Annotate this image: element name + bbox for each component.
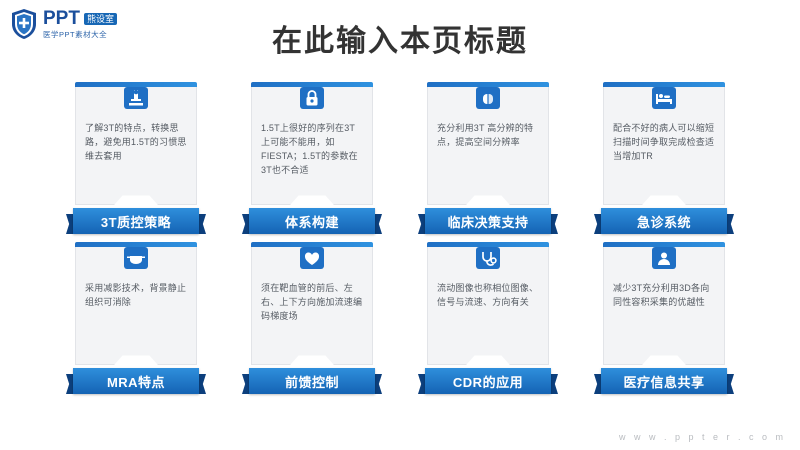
card-label[interactable]: 体系构建 [249,208,375,234]
card-top-bar [427,82,549,87]
card-text: 流动图像也称相位图像、信号与流速、方向有关 [437,281,539,309]
card-row-1: 了解3T的特点，转换思路，避免用1.5T的习惯思维去套用 3T质控策略 [0,82,800,234]
card-body: 须在靶血管的前后、左右、上下方向施加流速编码梯度场 [251,247,373,365]
card-body: 采用减影技术，背景静止组织可消除 [75,247,197,365]
microscope-icon [121,85,151,111]
lock-icon [297,85,327,111]
card-text: 充分利用3T 高分辨的特点，提高空间分辨率 [437,121,539,149]
card-label-wrap: 临床决策支持 [418,208,558,234]
card-7[interactable]: 流动图像也称相位图像、信号与流速、方向有关 CDR的应用 [418,242,558,394]
card-body: 流动图像也称相位图像、信号与流速、方向有关 [427,247,549,365]
card-top-bar [427,242,549,247]
card-grid: 了解3T的特点，转换思路，避免用1.5T的习惯思维去套用 3T质控策略 [0,82,800,402]
footer-watermark: w w w . p p t e r . c o m [619,432,786,442]
card-label-wrap: 体系构建 [242,208,382,234]
mask-icon [121,245,151,271]
card-top-bar [603,82,725,87]
card-label[interactable]: 前馈控制 [249,368,375,394]
card-text: 采用减影技术，背景静止组织可消除 [85,281,187,309]
brain-scan-icon [473,85,503,111]
card-label[interactable]: 医疗信息共享 [601,368,727,394]
card-label-wrap: 医疗信息共享 [594,368,734,394]
card-body: 减少3T充分利用3D各向同性容积采集的优越性 [603,247,725,365]
card-2[interactable]: 1.5T上很好的序列在3T上可能不能用，如FIESTA；1.5T的参数在3T也不… [242,82,382,234]
card-body: 1.5T上很好的序列在3T上可能不能用，如FIESTA；1.5T的参数在3T也不… [251,87,373,205]
card-top-bar [251,242,373,247]
card-label-wrap: MRA特点 [66,368,206,394]
page-title: 在此输入本页标题 [0,16,800,60]
card-body: 了解3T的特点，转换思路，避免用1.5T的习惯思维去套用 [75,87,197,205]
card-label-wrap: CDR的应用 [418,368,558,394]
card-label[interactable]: CDR的应用 [425,368,551,394]
card-text: 配合不好的病人可以缩短扫描时间争取完成检查适当增加TR [613,121,715,163]
stethoscope-icon [473,245,503,271]
card-1[interactable]: 了解3T的特点，转换思路，避免用1.5T的习惯思维去套用 3T质控策略 [66,82,206,234]
card-8[interactable]: 减少3T充分利用3D各向同性容积采集的优越性 医疗信息共享 [594,242,734,394]
card-label[interactable]: 急诊系统 [601,208,727,234]
card-label[interactable]: 3T质控策略 [73,208,199,234]
card-6[interactable]: 须在靶血管的前后、左右、上下方向施加流速编码梯度场 前馈控制 [242,242,382,394]
card-top-bar [251,82,373,87]
card-label-wrap: 前馈控制 [242,368,382,394]
card-label[interactable]: 临床决策支持 [425,208,551,234]
card-text: 了解3T的特点，转换思路，避免用1.5T的习惯思维去套用 [85,121,187,163]
hospital-bed-icon [649,85,679,111]
card-text: 1.5T上很好的序列在3T上可能不能用，如FIESTA；1.5T的参数在3T也不… [261,121,363,177]
card-body: 配合不好的病人可以缩短扫描时间争取完成检查适当增加TR [603,87,725,205]
card-4[interactable]: 配合不好的病人可以缩短扫描时间争取完成检查适当增加TR 急诊系统 [594,82,734,234]
card-3[interactable]: 充分利用3T 高分辨的特点，提高空间分辨率 临床决策支持 [418,82,558,234]
card-label[interactable]: MRA特点 [73,368,199,394]
card-text: 须在靶血管的前后、左右、上下方向施加流速编码梯度场 [261,281,363,323]
card-5[interactable]: 采用减影技术，背景静止组织可消除 MRA特点 [66,242,206,394]
card-row-2: 采用减影技术，背景静止组织可消除 MRA特点 须在靶血管的前后、左右、上下方向施… [0,242,800,394]
card-top-bar [603,242,725,247]
card-label-wrap: 急诊系统 [594,208,734,234]
card-text: 减少3T充分利用3D各向同性容积采集的优越性 [613,281,715,309]
heart-icon [297,245,327,271]
card-body: 充分利用3T 高分辨的特点，提高空间分辨率 [427,87,549,205]
card-top-bar [75,82,197,87]
card-label-wrap: 3T质控策略 [66,208,206,234]
user-badge-icon [649,245,679,271]
card-top-bar [75,242,197,247]
